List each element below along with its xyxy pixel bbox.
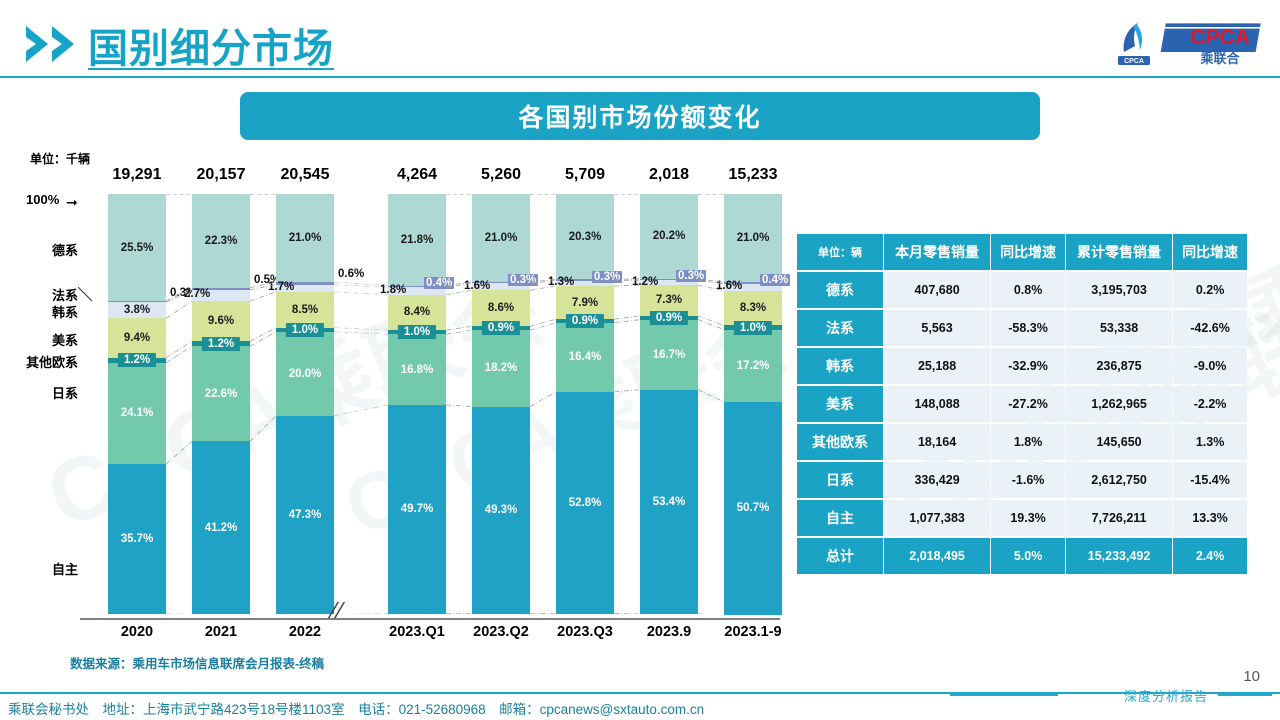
segment-value-chip: 1.2% — [202, 337, 240, 351]
page-title: 国别细分市场 — [88, 16, 334, 74]
x-axis-tick-2023.9: 2023.9 — [640, 624, 698, 640]
segment-value-label: 17.2% — [737, 360, 770, 372]
category-label-自主: 自主 — [0, 559, 78, 578]
x-axis-tick-2023.Q1: 2023.Q1 — [388, 624, 446, 640]
bar-total-label: 5,709 — [565, 166, 605, 184]
cumulative-yoy-value: -42.6% — [1173, 310, 1247, 346]
bar-column: 20,54521.0%1.7%8.5%1.0%20.0%47.3%0.6% — [276, 194, 334, 614]
segment-value-label: 49.3% — [485, 504, 518, 516]
bar-segment-德系: 21.0% — [472, 194, 530, 282]
bar-segment-德系: 21.0% — [276, 194, 334, 282]
footer-accent-line-left — [950, 694, 1058, 696]
bar-total-label: 15,233 — [729, 166, 778, 184]
month-retail-value: 407,680 — [884, 272, 990, 308]
segment-value-label: 20.3% — [569, 231, 602, 243]
month-retail-value: 1,077,383 — [884, 500, 990, 536]
x-axis-tick-2020: 2020 — [108, 624, 166, 640]
cumulative-yoy-value: -15.4% — [1173, 462, 1247, 498]
segment-value-label: 20.2% — [653, 230, 686, 242]
table-row: 德系407,6800.8%3,195,7030.2% — [797, 272, 1247, 308]
cumulative-yoy-value: 0.2% — [1173, 272, 1247, 308]
segment-value-label: 52.8% — [569, 497, 602, 509]
table-header-unit: 单位：辆 — [797, 234, 883, 270]
bar-segment-韩系: 3.8% — [108, 302, 166, 318]
bar-segment-日系: 16.7% — [640, 320, 698, 390]
category-label-美系: 美系 — [0, 330, 78, 349]
cumulative-retail-value: 7,726,211 — [1066, 500, 1172, 536]
bar-segment-日系: 20.0% — [276, 332, 334, 416]
category-label-韩系: 韩系 — [0, 302, 78, 321]
table-total-row: 总计2,018,4955.0%15,233,4922.4% — [797, 538, 1247, 574]
month-yoy-value: 0.8% — [991, 272, 1065, 308]
footer-accent-line-right — [1218, 694, 1272, 696]
bar-column: 5,70920.3%1.3%7.9%0.9%16.4%52.8%0.3% — [556, 194, 614, 614]
segment-value-label: 2.7% — [184, 288, 210, 300]
row-label: 自主 — [797, 500, 883, 536]
x-axis-tick-2023.1-9: 2023.1-9 — [724, 624, 782, 640]
axis-arrow-icon: ➞ — [66, 194, 78, 211]
cumulative-yoy-value: -9.0% — [1173, 348, 1247, 384]
segment-value-label: 8.3% — [740, 302, 766, 314]
row-label: 韩系 — [797, 348, 883, 384]
bar-total-label: 4,264 — [397, 166, 437, 184]
segment-value-chip: 0.9% — [482, 321, 520, 335]
bar-column: 2,01820.2%1.2%7.3%0.9%16.7%53.4%0.3% — [640, 194, 698, 614]
axis-top-label: 100% — [26, 192, 59, 207]
cumulative-yoy-value: -2.2% — [1173, 386, 1247, 422]
bar-total-label: 20,157 — [197, 166, 246, 184]
cumulative-retail-value: 1,262,965 — [1066, 386, 1172, 422]
segment-value-label: 25.5% — [121, 242, 154, 254]
chart-plot-area: 19,29125.5%3.8%9.4%1.2%24.1%35.7%0.3%20,… — [88, 194, 778, 614]
segment-value-label: 21.0% — [289, 232, 322, 244]
month-yoy-value: -27.2% — [991, 386, 1065, 422]
segment-value-label: 21.0% — [737, 232, 770, 244]
segment-value-label: 24.1% — [121, 407, 154, 419]
segment-value-label: 8.5% — [292, 304, 318, 316]
bar-segment-自主: 50.7% — [724, 402, 782, 615]
row-label: 其他欧系 — [797, 424, 883, 460]
month-retail-value: 336,429 — [884, 462, 990, 498]
table-body: 德系407,6800.8%3,195,7030.2%法系5,563-58.3%5… — [797, 272, 1247, 574]
bar-total-label: 2,018 — [649, 166, 689, 184]
bar-segment-日系: 16.4% — [556, 323, 614, 392]
segment-value-label: 3.8% — [124, 304, 150, 316]
double-chevron-right-icon — [24, 24, 82, 69]
bar-segment-自主: 41.2% — [192, 441, 250, 614]
segment-value-label: 49.7% — [401, 503, 434, 515]
cumulative-retail-value: 3,195,703 — [1066, 272, 1172, 308]
segment-value-label: 9.6% — [208, 315, 234, 327]
segment-value-label: 35.7% — [121, 533, 154, 545]
segment-value-chip: 0.9% — [650, 311, 688, 325]
svg-text:CPCA: CPCA — [1190, 26, 1250, 49]
segment-value-label: 53.4% — [653, 496, 686, 508]
cumulative-yoy-value: 13.3% — [1173, 500, 1247, 536]
segment-value-chip: 1.0% — [286, 323, 324, 337]
segment-value-label: 21.0% — [485, 232, 518, 244]
x-axis-line — [80, 618, 780, 620]
table-row: 日系336,429-1.6%2,612,750-15.4% — [797, 462, 1247, 498]
segment-value-label: 8.4% — [404, 306, 430, 318]
stacked-bar-chart: 单位：千辆 100% ➞ 德系法系韩系美系其他欧系日系自主 19,29125.5… — [0, 150, 790, 650]
segment-value-label: 22.3% — [205, 235, 238, 247]
bar-segment-德系: 25.5% — [108, 194, 166, 301]
france-share-label: 0.3% — [508, 274, 538, 286]
bar-segment-德系: 21.0% — [724, 194, 782, 282]
bar-column: 5,26021.0%1.6%8.6%0.9%18.2%49.3%0.3% — [472, 194, 530, 614]
segment-value-label: 16.7% — [653, 349, 686, 361]
month-retail-value: 25,188 — [884, 348, 990, 384]
france-share-label: 0.6% — [338, 268, 364, 280]
segment-value-label: 16.4% — [569, 351, 602, 363]
section-title-text: 各国别市场份额变化 — [518, 98, 761, 134]
table-header-month-yoy: 同比增速 — [991, 234, 1065, 270]
bar-segment-德系: 22.3% — [192, 194, 250, 288]
slide-header: 国别细分市场 CPCA CPCA 乘联合 — [0, 0, 1280, 78]
month-yoy-value: 5.0% — [991, 538, 1065, 574]
row-label: 总计 — [797, 538, 883, 574]
segment-value-label: 22.6% — [205, 388, 238, 400]
cumulative-retail-value: 53,338 — [1066, 310, 1172, 346]
month-retail-value: 18,164 — [884, 424, 990, 460]
table-row: 自主1,077,38319.3%7,726,21113.3% — [797, 500, 1247, 536]
table-header-month-retail: 本月零售销量 — [884, 234, 990, 270]
segment-value-label: 47.3% — [289, 509, 322, 521]
month-retail-value: 5,563 — [884, 310, 990, 346]
segment-value-label: 21.8% — [401, 234, 434, 246]
month-yoy-value: 1.8% — [991, 424, 1065, 460]
bar-segment-自主: 35.7% — [108, 464, 166, 614]
segment-value-label: 9.4% — [124, 332, 150, 344]
footer-contact: 乘联会秘书处 地址：上海市武宁路423号18号楼1103室 电话：021-526… — [8, 698, 704, 718]
section-title-banner: 各国别市场份额变化 — [240, 92, 1040, 140]
row-label: 德系 — [797, 272, 883, 308]
header-divider — [0, 76, 1280, 78]
bar-segment-德系: 20.2% — [640, 194, 698, 279]
footer-report-label: 深度分析报告 — [1124, 686, 1208, 705]
bar-column: 4,26421.8%1.8%8.4%1.0%16.8%49.7%0.4% — [388, 194, 446, 614]
cumulative-retail-value: 236,875 — [1066, 348, 1172, 384]
brand-origin-sales-table: 单位：辆 本月零售销量 同比增速 累计零售销量 同比增速 德系407,6800.… — [796, 232, 1248, 576]
segment-value-label: 18.2% — [485, 362, 518, 374]
table-row: 其他欧系18,1641.8%145,6501.3% — [797, 424, 1247, 460]
table-row: 法系5,563-58.3%53,338-42.6% — [797, 310, 1247, 346]
segment-value-chip: 1.0% — [734, 321, 772, 335]
cumulative-retail-value: 145,650 — [1066, 424, 1172, 460]
chart-source-note: 数据来源：乘用车市场信息联席会月报表-终稿 — [70, 653, 324, 672]
row-label: 法系 — [797, 310, 883, 346]
category-label-法系: 法系 — [0, 285, 78, 304]
cpca-logo: CPCA CPCA 乘联合 — [1112, 16, 1264, 68]
x-axis-tick-2022: 2022 — [276, 624, 334, 640]
bar-total-label: 5,260 — [481, 166, 521, 184]
bar-segment-自主: 49.3% — [472, 407, 530, 614]
chart-unit-label: 单位：千辆 — [30, 150, 90, 167]
bar-segment-美系: 9.4% — [108, 318, 166, 357]
bar-segment-美系: 9.6% — [192, 301, 250, 341]
table-header-row: 单位：辆 本月零售销量 同比增速 累计零售销量 同比增速 — [797, 234, 1247, 270]
table-row: 韩系25,188-32.9%236,875-9.0% — [797, 348, 1247, 384]
bar-total-label: 20,545 — [281, 166, 330, 184]
bar-segment-德系: 20.3% — [556, 194, 614, 279]
segment-value-label: 50.7% — [737, 502, 770, 514]
bar-segment-自主: 49.7% — [388, 405, 446, 614]
category-label-日系: 日系 — [0, 383, 78, 402]
bar-column: 20,15722.3%2.7%9.6%1.2%22.6%41.2%0.5% — [192, 194, 250, 614]
cumulative-retail-value: 2,612,750 — [1066, 462, 1172, 498]
segment-value-label: 8.6% — [488, 302, 514, 314]
bar-column: 19,29125.5%3.8%9.4%1.2%24.1%35.7%0.3% — [108, 194, 166, 614]
table-header-cum-retail: 累计零售销量 — [1066, 234, 1172, 270]
segment-value-label: 7.9% — [572, 297, 598, 309]
row-label: 美系 — [797, 386, 883, 422]
table-header-cum-yoy: 同比增速 — [1173, 234, 1247, 270]
france-share-label: 0.3% — [592, 271, 622, 283]
month-yoy-value: 19.3% — [991, 500, 1065, 536]
bar-segment-日系: 24.1% — [108, 363, 166, 464]
segment-value-chip: 1.2% — [118, 353, 156, 367]
bar-segment-自主: 53.4% — [640, 390, 698, 614]
segment-value-label: 20.0% — [289, 368, 322, 380]
segment-value-label: 41.2% — [205, 522, 238, 534]
segment-value-label: 7.3% — [656, 294, 682, 306]
bar-segment-德系: 21.8% — [388, 194, 446, 286]
france-share-label: 0.3% — [676, 270, 706, 282]
cumulative-yoy-value: 2.4% — [1173, 538, 1247, 574]
x-axis-tick-2023.Q2: 2023.Q2 — [472, 624, 530, 640]
x-axis-tick-2021: 2021 — [192, 624, 250, 640]
footer-divider — [0, 692, 1280, 694]
segment-value-chip: 0.9% — [566, 314, 604, 328]
category-label-其他欧系: 其他欧系 — [0, 352, 78, 371]
segment-value-chip: 1.0% — [398, 325, 436, 339]
bar-segment-日系: 18.2% — [472, 330, 530, 406]
month-yoy-value: -1.6% — [991, 462, 1065, 498]
bar-segment-自主: 47.3% — [276, 416, 334, 615]
category-label-德系: 德系 — [0, 240, 78, 259]
france-callout-line — [78, 287, 108, 313]
row-label: 日系 — [797, 462, 883, 498]
bar-total-label: 19,291 — [113, 166, 162, 184]
bar-segment-日系: 16.8% — [388, 334, 446, 405]
svg-text:乘联合: 乘联合 — [1199, 51, 1240, 67]
cumulative-retail-value: 15,233,492 — [1066, 538, 1172, 574]
bar-segment-日系: 22.6% — [192, 346, 250, 441]
month-retail-value: 2,018,495 — [884, 538, 990, 574]
segment-value-label: 16.8% — [401, 364, 434, 376]
bar-segment-日系: 17.2% — [724, 330, 782, 402]
svg-text:CPCA: CPCA — [1124, 58, 1144, 65]
month-yoy-value: -32.9% — [991, 348, 1065, 384]
month-retail-value: 148,088 — [884, 386, 990, 422]
x-axis-tick-2023.Q3: 2023.Q3 — [556, 624, 614, 640]
bar-column: 15,23321.0%1.6%8.3%1.0%17.2%50.7%0.4% — [724, 194, 782, 614]
table-row: 美系148,088-27.2%1,262,965-2.2% — [797, 386, 1247, 422]
france-share-label: 0.4% — [760, 274, 790, 286]
bar-segment-自主: 52.8% — [556, 392, 614, 614]
page-number: 10 — [1243, 668, 1260, 685]
month-yoy-value: -58.3% — [991, 310, 1065, 346]
france-share-label: 0.4% — [424, 277, 454, 289]
cumulative-yoy-value: 1.3% — [1173, 424, 1247, 460]
